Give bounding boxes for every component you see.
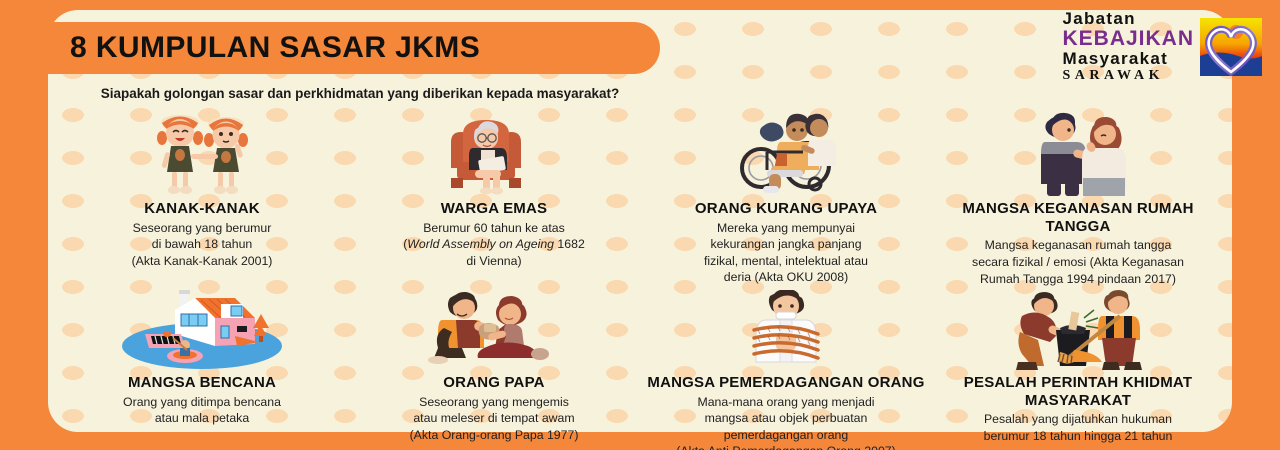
card-title: MANGSA PEMERDAGANGAN ORANG bbox=[647, 374, 924, 392]
desc-line: pemerdagangan orang bbox=[676, 427, 895, 444]
jkm-sarawak-logo: Jabatan KEBAJIKAN Masyarakat SARAWAK bbox=[1062, 10, 1264, 83]
card-description: Mereka yang mempunyai kekurangan jangka … bbox=[704, 220, 868, 286]
card-title: MANGSA BENCANA bbox=[128, 374, 276, 392]
card-mangsa-keganasan-rumah-tangga: MANGSA KEGANASAN RUMAH TANGGA Mangsa keg… bbox=[932, 106, 1224, 287]
desc-line: di Vienna) bbox=[403, 253, 585, 270]
card-description: Mana-mana orang yang menjadi mangsa atau… bbox=[676, 394, 895, 450]
card-description: Pesalah yang dijatuhkan hukuman berumur … bbox=[984, 411, 1173, 444]
desc-line: Orang yang ditimpa bencana bbox=[123, 394, 281, 411]
logo-text-block: Jabatan KEBAJIKAN Masyarakat SARAWAK bbox=[1062, 10, 1194, 83]
card-orang-papa: ORANG PAPA Seseorang yang mengemis atau … bbox=[348, 280, 640, 450]
desc-line: (Akta Orang-orang Papa 1977) bbox=[410, 427, 579, 444]
logo-line-jabatan: Jabatan bbox=[1062, 10, 1194, 27]
jkm-sarawak-heart-emblem-icon bbox=[1198, 16, 1264, 78]
desc-line: kekurangan jangka panjang bbox=[704, 236, 868, 253]
cards-row-bottom: MANGSA BENCANA Orang yang ditimpa bencan… bbox=[56, 280, 1224, 450]
desc-line: Mereka yang mempunyai bbox=[704, 220, 868, 237]
desc-line: Pesalah yang dijatuhkan hukuman bbox=[984, 411, 1173, 428]
desc-line: secara fizikal / emosi (Akta Keganasan bbox=[972, 254, 1184, 271]
card-description: Orang yang ditimpa bencana atau mala pet… bbox=[123, 394, 281, 427]
cards-row-top: KANAK-KANAK Seseorang yang berumur di ba… bbox=[56, 106, 1224, 287]
card-orang-kurang-upaya: ORANG KURANG UPAYA Mereka yang mempunyai… bbox=[640, 106, 932, 287]
card-mangsa-bencana: MANGSA BENCANA Orang yang ditimpa bencan… bbox=[56, 280, 348, 450]
card-description: Seseorang yang berumur di bawah 18 tahun… bbox=[132, 220, 273, 270]
card-title: PESALAH PERINTAH KHIDMAT MASYARAKAT bbox=[936, 374, 1220, 409]
desc-line: berumur 18 tahun hingga 21 tahun bbox=[984, 428, 1173, 445]
community-service-illustration bbox=[998, 280, 1158, 370]
title-bar: 8 KUMPULAN SASAR JKMS bbox=[0, 22, 660, 74]
desc-line: Mangsa keganasan rumah tangga bbox=[972, 237, 1184, 254]
desc-line: atau mala petaka bbox=[123, 410, 281, 427]
card-warga-emas: WARGA EMAS Berumur 60 tahun ke atas (Wor… bbox=[348, 106, 640, 287]
logo-line-kebajikan: KEBAJIKAN bbox=[1062, 28, 1194, 49]
desc-line: mangsa atau objek perbuatan bbox=[676, 410, 895, 427]
card-description: Seseorang yang mengemis atau meleser di … bbox=[410, 394, 579, 444]
desc-line: (Akta Anti Pemerdagangan Orang 2007) bbox=[676, 443, 895, 450]
flooded-house-illustration bbox=[117, 280, 287, 370]
elderly-woman-armchair-illustration bbox=[435, 106, 553, 196]
card-title: ORANG KURANG UPAYA bbox=[695, 200, 877, 218]
desc-line: (World Assembly on Ageing 1682 bbox=[403, 236, 585, 253]
domestic-violence-illustration bbox=[1017, 106, 1139, 196]
desc-line: atau meleser di tempat awam bbox=[410, 410, 579, 427]
desc-line: Seseorang yang berumur bbox=[132, 220, 273, 237]
card-title: WARGA EMAS bbox=[441, 200, 547, 218]
desc-italic: World Assembly on Ageing bbox=[407, 237, 554, 251]
desc-line: Mana-mana orang yang menjadi bbox=[676, 394, 895, 411]
card-description: Berumur 60 tahun ke atas (World Assembly… bbox=[403, 220, 585, 270]
person-bound-rope-illustration bbox=[726, 280, 846, 370]
desc-line: Berumur 60 tahun ke atas bbox=[403, 220, 585, 237]
page-title: 8 KUMPULAN SASAR JKMS bbox=[0, 31, 480, 65]
two-children-illustration bbox=[146, 106, 258, 196]
giving-aid-illustration bbox=[414, 280, 574, 370]
card-mangsa-pemerdagangan-orang: MANGSA PEMERDAGANGAN ORANG Mana-mana ora… bbox=[640, 280, 932, 450]
desc-line: fizikal, mental, intelektual atau bbox=[704, 253, 868, 270]
desc-line: di bawah 18 tahun bbox=[132, 236, 273, 253]
card-title: ORANG PAPA bbox=[443, 374, 544, 392]
card-title: KANAK-KANAK bbox=[144, 200, 260, 218]
subtitle: Siapakah golongan sasar dan perkhidmatan… bbox=[60, 84, 660, 104]
logo-line-sarawak: SARAWAK bbox=[1062, 69, 1194, 83]
card-kanak-kanak: KANAK-KANAK Seseorang yang berumur di ba… bbox=[56, 106, 348, 287]
desc-line: (Akta Kanak-Kanak 2001) bbox=[132, 253, 273, 270]
desc-line: Seseorang yang mengemis bbox=[410, 394, 579, 411]
card-title: MANGSA KEGANASAN RUMAH TANGGA bbox=[936, 200, 1220, 235]
wheelchair-user-illustration bbox=[727, 106, 845, 196]
logo-line-masyarakat: Masyarakat bbox=[1062, 50, 1194, 67]
card-pesalah-perintah-khidmat-masyarakat: PESALAH PERINTAH KHIDMAT MASYARAKAT Pesa… bbox=[932, 280, 1224, 450]
